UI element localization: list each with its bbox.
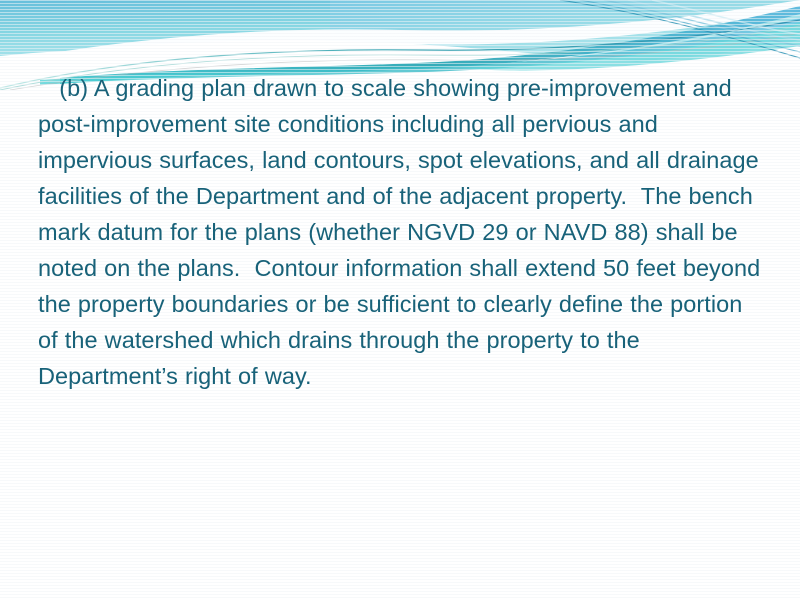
slide-body-paragraph: (b) A grading plan drawn to scale showin… [38,70,768,394]
slide-canvas: (b) A grading plan drawn to scale showin… [0,0,800,600]
